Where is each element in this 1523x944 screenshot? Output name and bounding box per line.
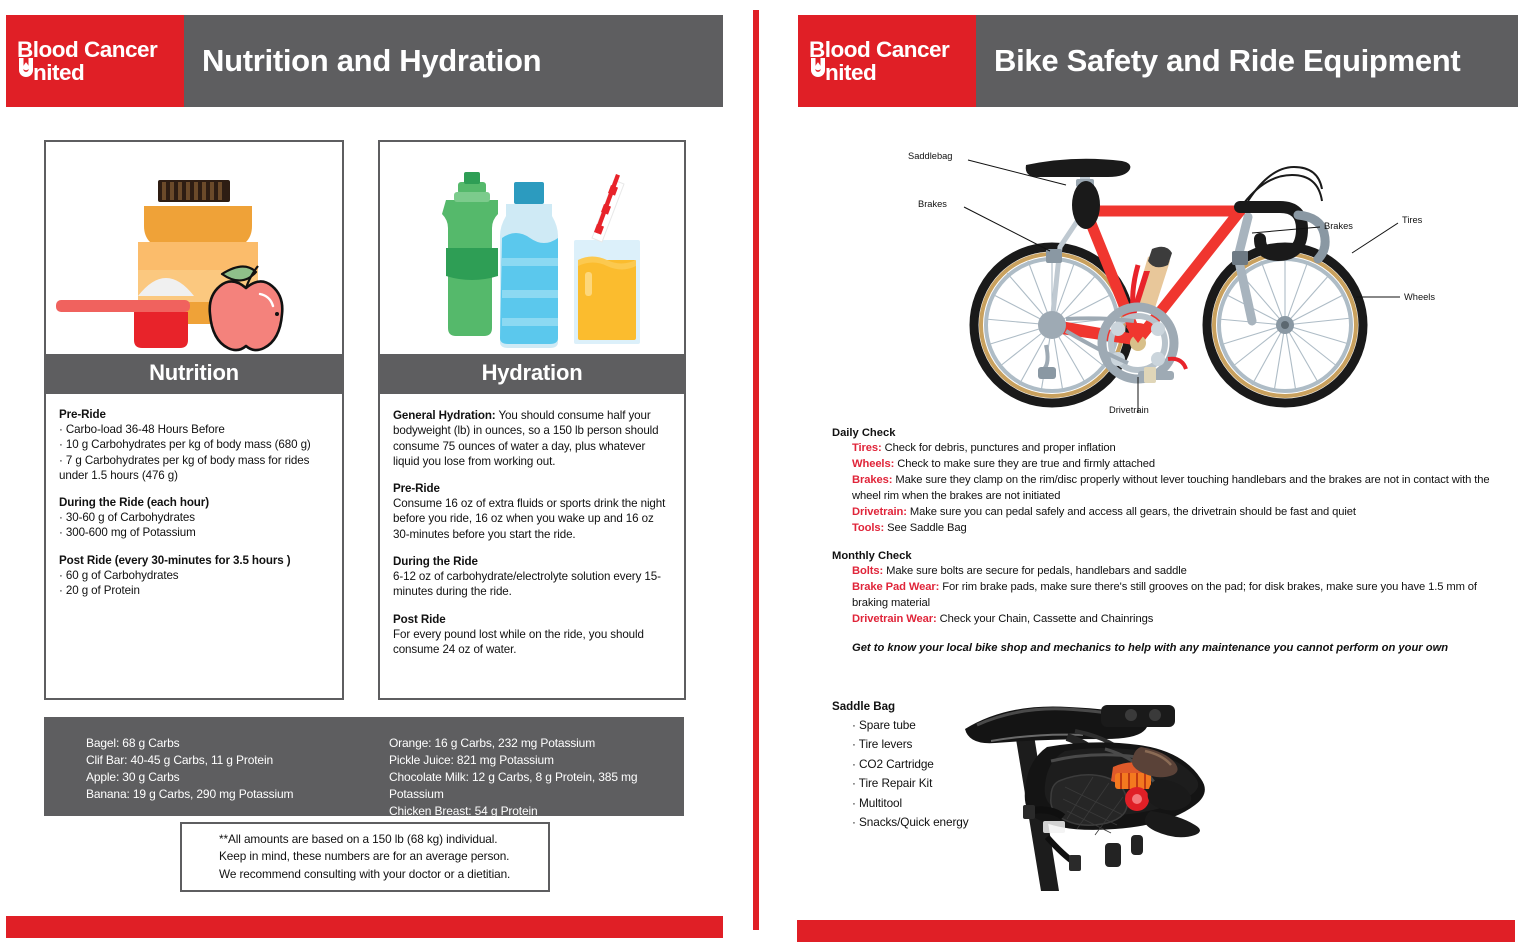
nutrition-section-post-ride: Post Ride (every 30-minutes for 3.5 hour… [59,554,329,599]
check-text: See Saddle Bag [884,522,966,534]
section-heading: Post Ride [393,613,671,626]
check-term: Tools: [852,522,884,534]
brand-logo: Blood Cancer nited [798,15,976,107]
bike-label-saddlebag: Saddlebag [908,151,952,161]
bullet-line: · 300-600 mg of Potassium [59,525,329,540]
hydration-card-caption: Hydration [380,354,684,394]
bullet-line: · Carbo-load 36-48 Hours Before [59,422,329,437]
hydration-card: Hydration General Hydration: You should … [378,140,686,700]
bike-label-drivetrain: Drivetrain [1109,405,1149,415]
daily-check-title: Daily Check [832,427,1512,439]
right-panel-header: Blood Cancer nited Bike Safety and Ride … [798,15,1518,107]
check-item: Tools: See Saddle Bag [852,521,1512,537]
bullet-line: · 60 g of Carbohydrates [59,568,329,583]
monthly-check-title: Monthly Check [832,550,1512,562]
nutrition-card-caption: Nutrition [46,354,342,394]
check-item: Wheels: Check to make sure they are true… [852,457,1512,473]
section-heading: During the Ride [393,555,671,568]
food-fact-item: Chocolate Milk: 12 g Carbs, 8 g Protein,… [389,769,684,803]
bike-label-tires: Tires [1402,215,1423,225]
nutrition-card-body: Pre-Ride · Carbo-load 36-48 Hours Before… [46,394,342,608]
disclaimer-line: **All amounts are based on a 150 lb (68 … [219,831,548,848]
brand-logo-united-text: nited [825,61,876,84]
brand-logo-line1: Blood Cancer [17,38,184,61]
bullet-line: · 20 g of Protein [59,583,329,598]
food-fact-item: Orange: 16 g Carbs, 232 mg Potassium [389,735,684,752]
section-heading: During the Ride (each hour) [59,496,329,509]
check-text: Check for debris, punctures and proper i… [882,442,1116,454]
check-item: Bolts: Make sure bolts are secure for pe… [852,564,1512,580]
section-heading: General Hydration: [393,409,496,422]
check-text: For rim brake pads, make sure there's st… [852,581,1477,609]
front-wheel [1207,247,1363,403]
bike-label-brakes-front: Brakes [1324,221,1353,231]
right-bottom-red-bar [797,920,1515,942]
food-fact-item: Apple: 30 g Carbs [86,769,381,786]
check-item: Drivetrain Wear: Check your Chain, Casse… [852,612,1512,628]
left-panel-header: Blood Cancer nited Nutrition and Hydrati… [6,15,723,107]
section-heading: Post Ride (every 30-minutes for 3.5 hour… [59,554,329,567]
disclaimer-line: We recommend consulting with your doctor… [219,866,548,883]
hydration-card-body: General Hydration: You should consume ha… [380,394,684,667]
poster-page: Blood Cancer nited Nutrition and Hydrati… [0,0,1523,944]
check-item: Brake Pad Wear: For rim brake pads, make… [852,580,1512,612]
bullet-line: · 30-60 g of Carbohydrates [59,510,329,525]
food-fact-item: Bagel: 68 g Carbs [86,735,381,752]
check-item: Drivetrain: Make sure you can pedal safe… [852,505,1512,521]
food-fact-item: Clif Bar: 40-45 g Carbs, 11 g Protein [86,752,381,769]
food-fact-item: Chicken Breast: 54 g Protein [389,803,684,820]
food-facts-box: Bagel: 68 g Carbs Clif Bar: 40-45 g Carb… [44,717,684,816]
check-text: Check your Chain, Cassette and Chainring… [937,613,1154,625]
bike-shop-note: Get to know your local bike shop and mec… [832,642,1512,654]
food-facts-column-1: Bagel: 68 g Carbs Clif Bar: 40-45 g Carb… [44,735,381,816]
check-term: Wheels: [852,458,894,470]
hydration-section-post-ride: Post Ride For every pound lost while on … [393,613,671,658]
saddle-bag-photo [955,695,1225,895]
nutrition-card: Nutrition Pre-Ride · Carbo-load 36-48 Ho… [44,140,344,700]
nutrition-section-pre-ride: Pre-Ride · Carbo-load 36-48 Hours Before… [59,408,329,483]
brand-logo-line2: nited [809,61,976,84]
food-fact-item: Pickle Juice: 821 mg Potassium [389,752,684,769]
check-text: Make sure bolts are secure for pedals, h… [883,565,1187,577]
brand-logo-united-text: nited [33,61,84,84]
check-text: Make sure they clamp on the rim/disc pro… [852,474,1489,502]
section-heading: Pre-Ride [393,482,671,495]
nutrition-section-during-ride: During the Ride (each hour) · 30-60 g of… [59,496,329,541]
brand-logo-line2: nited [17,61,184,84]
food-fact-item: Banana: 19 g Carbs, 290 mg Potassium [86,786,381,803]
bullet-line: · 10 g Carbohydrates per kg of body mass… [59,437,329,452]
right-panel-title: Bike Safety and Ride Equipment [976,15,1518,107]
left-panel: Blood Cancer nited Nutrition and Hydrati… [0,0,740,944]
check-term: Brake Pad Wear: [852,581,939,593]
maintenance-checks: Daily Check Tires: Check for debris, pun… [832,427,1512,654]
check-item: Brakes: Make sure they clamp on the rim/… [852,473,1512,505]
bullet-line: · 7 g Carbohydrates per kg of body mass … [59,453,329,484]
check-text: Check to make sure they are true and fir… [894,458,1155,470]
check-term: Drivetrain Wear: [852,613,937,625]
section-text: Consume 16 oz of extra fluids or sports … [393,496,671,542]
hydration-section-general: General Hydration: You should consume ha… [393,408,671,469]
disclaimer-line: Keep in mind, these numbers are for an a… [219,848,548,865]
disclaimer-box: **All amounts are based on a 150 lb (68 … [180,822,550,892]
nutrition-illustration [46,142,342,354]
bike-label-brakes-rear: Brakes [918,199,947,209]
hydration-section-pre-ride: Pre-Ride Consume 16 oz of extra fluids o… [393,482,671,542]
road-bike-diagram: Saddlebag Brakes Brakes Tires Wheels Dri… [900,145,1460,415]
section-text: 6-12 oz of carbohydrate/electrolyte solu… [393,569,671,600]
check-text: Make sure you can pedal safely and acces… [907,506,1356,518]
section-heading: Pre-Ride [59,408,329,421]
vertical-red-divider [753,10,759,930]
hydration-illustration [380,142,684,354]
check-term: Bolts: [852,565,883,577]
food-facts-column-2: Orange: 16 g Carbs, 232 mg Potassium Pic… [381,735,684,816]
daily-check-list: Tires: Check for debris, punctures and p… [832,441,1512,536]
brand-logo: Blood Cancer nited [6,15,184,107]
check-term: Drivetrain: [852,506,907,518]
monthly-check-list: Bolts: Make sure bolts are secure for pe… [832,564,1512,628]
check-term: Brakes: [852,474,892,486]
left-panel-title: Nutrition and Hydration [184,15,723,107]
hydration-section-during-ride: During the Ride 6-12 oz of carbohydrate/… [393,555,671,600]
section-text: For every pound lost while on the ride, … [393,627,671,658]
left-bottom-red-bar [6,916,723,938]
brand-logo-line1: Blood Cancer [809,38,976,61]
bike-label-wheels: Wheels [1404,292,1435,302]
check-item: Tires: Check for debris, punctures and p… [852,441,1512,457]
check-term: Tires: [852,442,882,454]
